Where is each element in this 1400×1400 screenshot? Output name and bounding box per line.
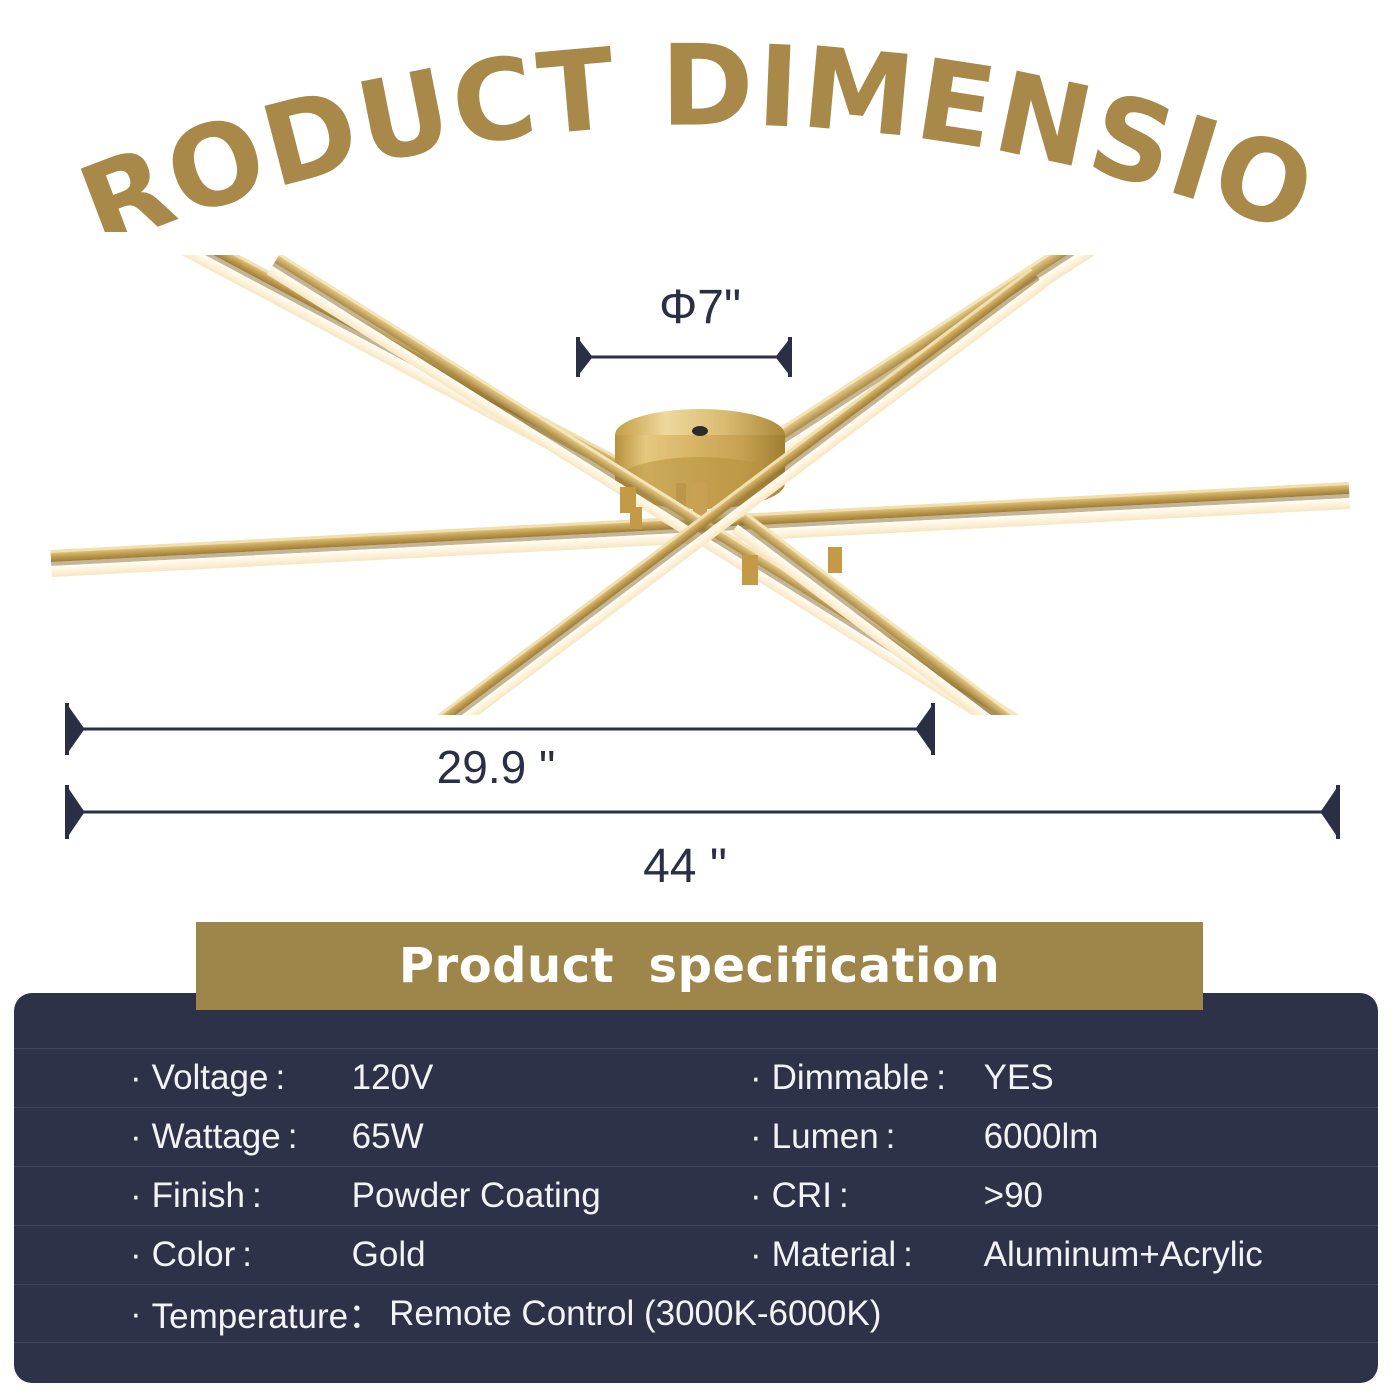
spec-value: >90	[984, 1176, 1043, 1216]
spec-value: 6000lm	[984, 1117, 1099, 1157]
spec-value: YES	[984, 1058, 1054, 1098]
spec-cell-material: · Material : Aluminum+Acrylic	[704, 1226, 1378, 1284]
table-row: · Wattage : 65W · Lumen : 6000lm	[14, 1107, 1378, 1166]
table-row-temperature: · Temperature： Remote Control (3000K-600…	[14, 1284, 1378, 1343]
dimension-label-inner: 29.9 "	[437, 741, 556, 793]
page-title-textpath: PRODUCT DIMENSION	[0, 32, 1331, 232]
spec-value: Powder Coating	[352, 1176, 601, 1216]
spec-value: Remote Control (3000K-6000K)	[389, 1294, 881, 1334]
dimension-canopy-diameter	[578, 337, 790, 377]
table-row: · Voltage : 120V · Dimmable : YES	[14, 1048, 1378, 1107]
bullet-icon: ·	[130, 1058, 142, 1098]
spec-value: Gold	[352, 1235, 426, 1275]
spec-cell-temperature: · Temperature： Remote Control (3000K-600…	[14, 1285, 1378, 1342]
bullet-icon: ·	[750, 1235, 762, 1275]
bullet-icon: ·	[130, 1117, 142, 1157]
spec-key: Material :	[772, 1235, 984, 1275]
spec-key: Wattage :	[152, 1117, 352, 1157]
dimension-label-diameter: Φ7"	[659, 281, 741, 334]
spec-key: CRI :	[772, 1176, 984, 1216]
page-title-text: PRODUCT DIMENSION	[0, 32, 1331, 232]
spec-value: Aluminum+Acrylic	[984, 1235, 1263, 1275]
spec-key: Temperature：	[152, 1288, 383, 1339]
product-dimension-infographic: PRODUCT DIMENSION	[0, 0, 1400, 1400]
spec-key: Dimmable :	[772, 1058, 984, 1098]
table-row: · Finish : Powder Coating · CRI : >90	[14, 1166, 1378, 1225]
spec-value: 120V	[352, 1058, 434, 1098]
specification-banner: Product specification	[196, 922, 1203, 1010]
spec-key: Finish :	[152, 1176, 352, 1216]
dimension-annotations: Φ7" 29.9 " 44 "	[0, 255, 1400, 915]
dimension-overall-width	[67, 785, 1338, 839]
dimension-label-outer: 44 "	[643, 840, 727, 893]
spec-cell-wattage: · Wattage : 65W	[14, 1108, 704, 1166]
spec-cell-voltage: · Voltage : 120V	[14, 1049, 704, 1107]
spec-key: Voltage :	[152, 1058, 352, 1098]
bullet-icon: ·	[130, 1235, 142, 1275]
bullet-icon: ·	[750, 1176, 762, 1216]
page-title: PRODUCT DIMENSION	[0, 32, 1400, 232]
spec-cell-finish: · Finish : Powder Coating	[14, 1167, 704, 1225]
specification-table: · Voltage : 120V · Dimmable : YES · Watt…	[14, 1048, 1378, 1383]
spec-key: Color :	[152, 1235, 352, 1275]
spec-cell-lumen: · Lumen : 6000lm	[704, 1108, 1378, 1166]
spec-value: 65W	[352, 1117, 424, 1157]
table-row: · Color : Gold · Material : Aluminum+Acr…	[14, 1225, 1378, 1284]
spec-key: Lumen :	[772, 1117, 984, 1157]
spec-cell-color: · Color : Gold	[14, 1226, 704, 1284]
spec-cell-cri: · CRI : >90	[704, 1167, 1378, 1225]
bullet-icon: ·	[130, 1294, 142, 1334]
spec-cell-dimmable: · Dimmable : YES	[704, 1049, 1378, 1107]
specification-banner-title: Product specification	[399, 938, 1000, 994]
bullet-icon: ·	[130, 1176, 142, 1216]
bullet-icon: ·	[750, 1058, 762, 1098]
bullet-icon: ·	[750, 1117, 762, 1157]
